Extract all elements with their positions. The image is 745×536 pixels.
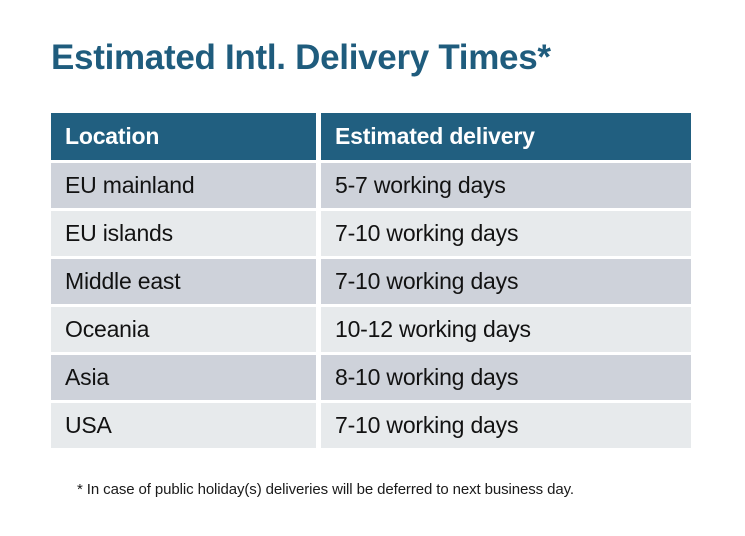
cell-estimated-delivery: 7-10 working days xyxy=(321,259,691,304)
delivery-times-table: Location Estimated delivery EU mainland … xyxy=(51,113,691,448)
column-header-location: Location xyxy=(51,113,316,160)
delivery-times-page: Estimated Intl. Delivery Times* Location… xyxy=(0,0,745,536)
cell-location: Middle east xyxy=(51,259,316,304)
cell-estimated-delivery: 10-12 working days xyxy=(321,307,691,352)
cell-location: EU islands xyxy=(51,211,316,256)
cell-location: Oceania xyxy=(51,307,316,352)
footnote-text: * In case of public holiday(s) deliverie… xyxy=(77,480,574,500)
cell-location: Asia xyxy=(51,355,316,400)
page-title: Estimated Intl. Delivery Times* xyxy=(51,36,551,80)
table-row: Oceania 10-12 working days xyxy=(51,307,691,352)
cell-location: USA xyxy=(51,403,316,448)
cell-location: EU mainland xyxy=(51,163,316,208)
cell-estimated-delivery: 7-10 working days xyxy=(321,211,691,256)
table-row: USA 7-10 working days xyxy=(51,403,691,448)
column-header-estimated-delivery: Estimated delivery xyxy=(321,113,691,160)
table-row: Middle east 7-10 working days xyxy=(51,259,691,304)
table-row: EU islands 7-10 working days xyxy=(51,211,691,256)
cell-estimated-delivery: 8-10 working days xyxy=(321,355,691,400)
table-row: Asia 8-10 working days xyxy=(51,355,691,400)
cell-estimated-delivery: 5-7 working days xyxy=(321,163,691,208)
table-header-row: Location Estimated delivery xyxy=(51,113,691,160)
table-row: EU mainland 5-7 working days xyxy=(51,163,691,208)
cell-estimated-delivery: 7-10 working days xyxy=(321,403,691,448)
